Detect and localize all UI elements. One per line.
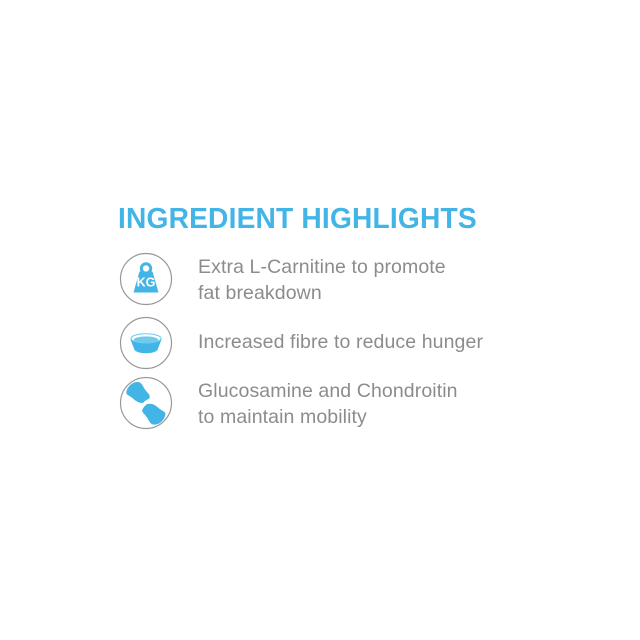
ingredient-highlights-panel: INGREDIENT HIGHLIGHTS KG Extra L-Carniti… — [118, 203, 558, 431]
joint-bone-icon — [118, 375, 174, 431]
list-item: Glucosamine and Chondroitin to maintain … — [118, 375, 558, 431]
list-item-text: Extra L-Carnitine to promote fat breakdo… — [198, 251, 558, 306]
list-item-text: Glucosamine and Chondroitin to maintain … — [198, 375, 558, 430]
kg-icon-label: KG — [137, 275, 156, 289]
list-item: KG Extra L-Carnitine to promote fat brea… — [118, 251, 558, 307]
list-item: Increased fibre to reduce hunger — [118, 315, 558, 371]
list-item-text-line: fat breakdown — [198, 280, 558, 306]
page-title: INGREDIENT HIGHLIGHTS — [118, 203, 545, 235]
kg-weight-icon: KG — [118, 251, 174, 307]
list-item-text-line: Extra L-Carnitine to promote — [198, 254, 558, 280]
list-item-text-line: Glucosamine and Chondroitin — [198, 378, 558, 404]
list-item-text-line: Increased fibre to reduce hunger — [198, 329, 558, 355]
list-item-text: Increased fibre to reduce hunger — [198, 315, 558, 355]
pet-food-bowl-icon — [118, 315, 174, 371]
highlight-list: KG Extra L-Carnitine to promote fat brea… — [118, 251, 558, 431]
list-item-text-line: to maintain mobility — [198, 404, 558, 430]
